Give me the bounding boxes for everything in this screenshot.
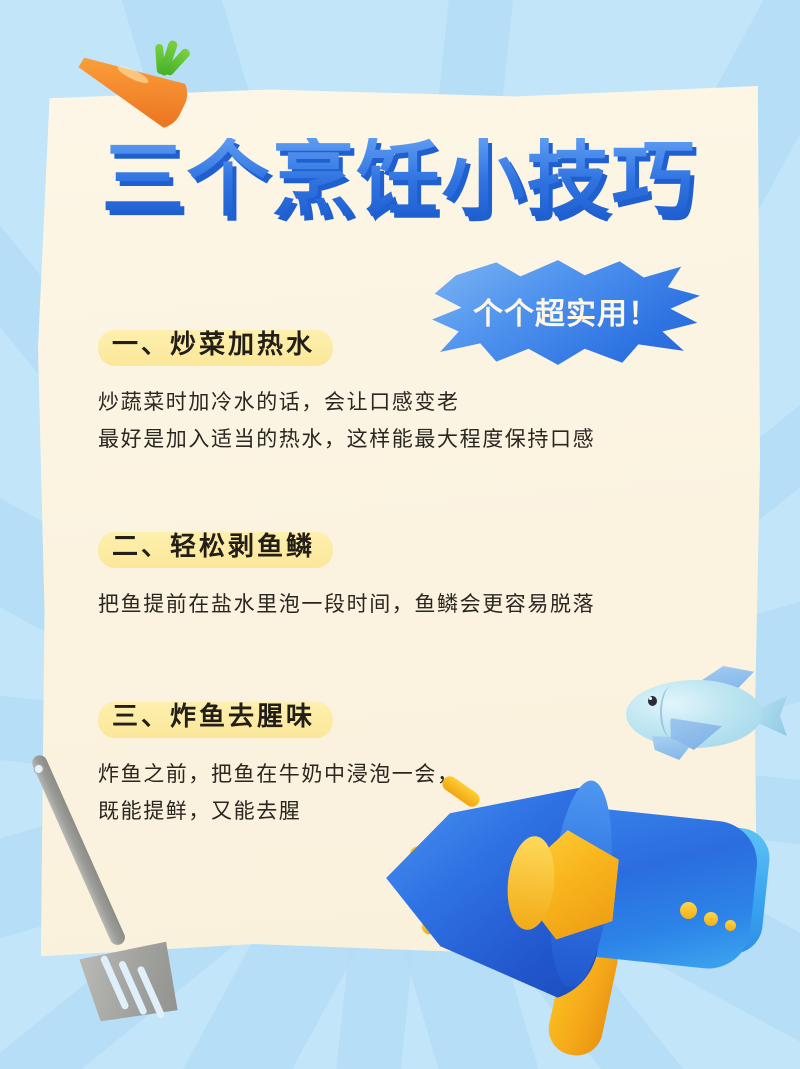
tip-body-1-line-1: 炒蔬菜时加冷水的话，会让口感变老	[98, 384, 758, 421]
tip-heading-2: 二、轻松剥鱼鳞	[98, 522, 333, 568]
tip-heading-3: 三、炸鱼去腥味	[98, 692, 333, 738]
tip-heading-1-text: 一、炒菜加热水	[112, 330, 315, 360]
badge-starburst: 个个超实用！	[432, 258, 700, 366]
sound-ray	[439, 773, 482, 809]
megaphone-dot	[704, 912, 718, 926]
spatula-handle	[30, 753, 127, 947]
tip-body-2: 把鱼提前在盐水里泡一段时间，鱼鳞会更容易脱落	[98, 586, 758, 623]
tip-body-1-line-2: 最好是加入适当的热水，这样能最大程度保持口感	[98, 421, 758, 458]
megaphone-dot	[725, 920, 736, 931]
megaphone-icon	[396, 772, 800, 1062]
poster-canvas: 三个烹饪小技巧 一、炒菜加热水 炒蔬菜时加冷水的话，会让口感变老 最好是加入适当…	[0, 0, 800, 1069]
fish-icon	[612, 660, 790, 768]
tip-heading-2-text: 二、轻松剥鱼鳞	[112, 532, 315, 562]
tip-heading-1: 一、炒菜加热水	[98, 320, 333, 366]
fish-gill	[660, 686, 684, 738]
tip-section-2: 二、轻松剥鱼鳞 把鱼提前在盐水里泡一段时间，鱼鳞会更容易脱落	[98, 522, 758, 623]
tip-body-1: 炒蔬菜时加冷水的话，会让口感变老 最好是加入适当的热水，这样能最大程度保持口感	[98, 384, 758, 458]
tip-heading-3-text: 三、炸鱼去腥味	[112, 702, 315, 732]
fish-eye	[648, 696, 657, 706]
spatula-blade	[72, 917, 199, 1044]
badge-label: 个个超实用！	[432, 258, 700, 366]
megaphone-dot	[680, 902, 697, 919]
spatula-icon	[3, 745, 193, 1041]
carrot-body	[68, 33, 196, 138]
page-title: 三个烹饪小技巧	[38, 138, 760, 221]
carrot-icon	[72, 34, 192, 144]
tip-body-2-line-1: 把鱼提前在盐水里泡一段时间，鱼鳞会更容易脱落	[98, 586, 758, 623]
